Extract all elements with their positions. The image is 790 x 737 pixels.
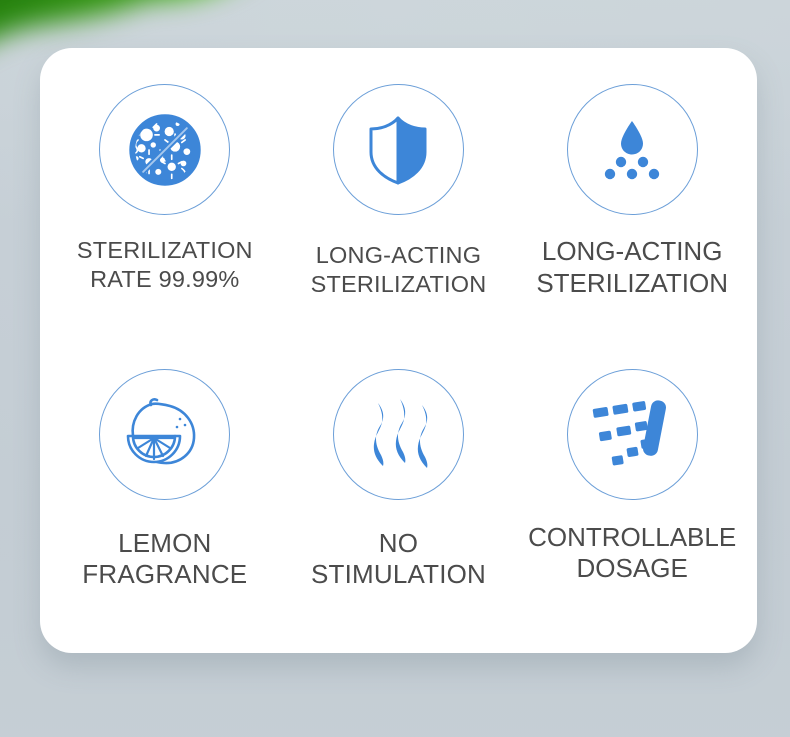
no-bacteria-icon <box>123 108 207 192</box>
icon-circle-long-acting-droplet <box>567 84 698 215</box>
icon-circle-long-acting-shield <box>333 84 464 215</box>
feature-label-long-acting-droplet: LONG-ACTING STERILIZATION <box>536 236 728 299</box>
feature-item-lemon-fragrance[interactable]: LEMON FRAGRANCE <box>48 355 282 636</box>
lemon-icon <box>122 394 208 474</box>
feature-label-controllable-dosage: CONTROLLABLE DOSAGE <box>528 522 736 585</box>
feature-label-no-stimulation: NO STIMULATION <box>311 528 486 591</box>
feature-item-no-stimulation[interactable]: NO STIMULATION <box>282 355 516 636</box>
feature-label-sterilization-rate: STERILIZATION RATE 99.99% <box>77 236 253 293</box>
feature-item-long-acting-shield[interactable]: LONG-ACTING STERILIZATION <box>282 74 516 355</box>
dosage-bar-icon <box>589 394 675 474</box>
feature-item-long-acting-droplet[interactable]: LONG-ACTING STERILIZATION <box>515 74 749 355</box>
icon-circle-no-stimulation <box>333 369 464 500</box>
feature-grid: STERILIZATION RATE 99.99% LONG-ACTING ST… <box>40 48 757 653</box>
water-droplet-icon <box>594 119 670 181</box>
feature-item-controllable-dosage[interactable]: CONTROLLABLE DOSAGE <box>515 355 749 636</box>
icon-circle-controllable-dosage <box>567 369 698 500</box>
icon-circle-lemon-fragrance <box>99 369 230 500</box>
feature-label-long-acting-shield: LONG-ACTING STERILIZATION <box>311 241 487 298</box>
feature-card: STERILIZATION RATE 99.99% LONG-ACTING ST… <box>40 48 757 653</box>
steam-waves-icon <box>362 397 434 471</box>
shield-icon <box>365 114 431 186</box>
icon-circle-sterilization-rate <box>99 84 230 215</box>
feature-item-sterilization-rate[interactable]: STERILIZATION RATE 99.99% <box>48 74 282 355</box>
feature-label-lemon-fragrance: LEMON FRAGRANCE <box>82 528 247 591</box>
